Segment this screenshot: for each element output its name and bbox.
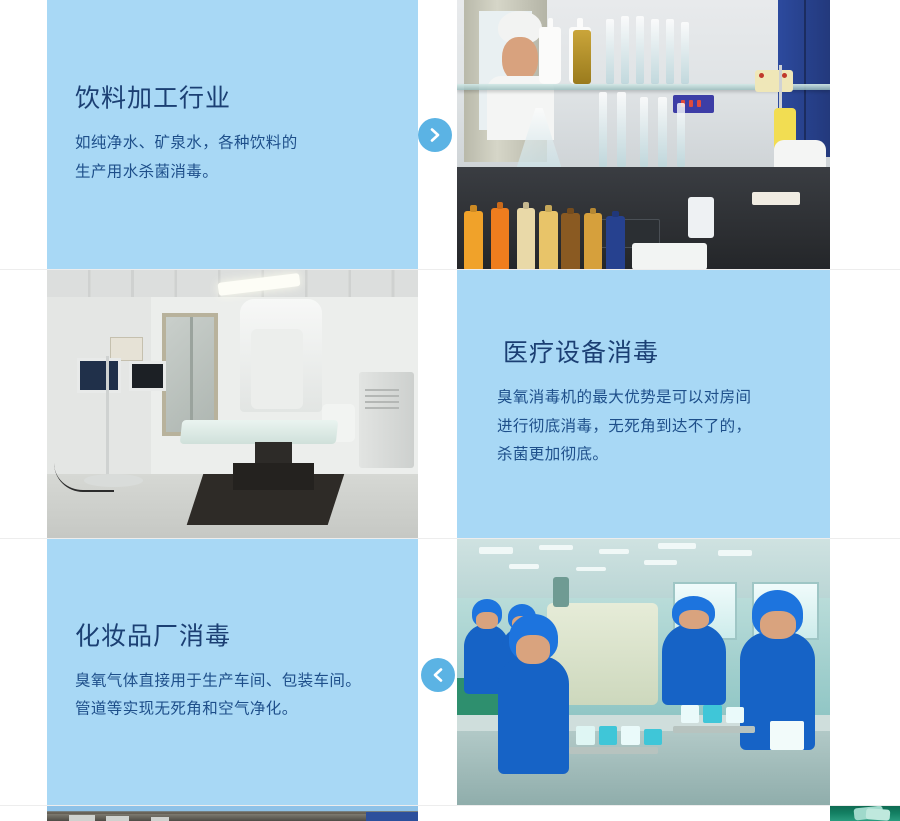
- medical-body-line-3: 杀菌更加彻底。: [497, 441, 804, 470]
- cleanroom-packaging-photo: [457, 539, 830, 806]
- medical-title: 医疗设备消毒: [503, 338, 804, 368]
- cosmetics-body-line-2: 管道等实现无死角和空气净化。: [75, 696, 392, 725]
- beverage-title: 饮料加工行业: [75, 83, 392, 113]
- scenario-row-beverage: 饮料加工行业 如纯净水、矿泉水，各种饮料的 生产用水杀菌消毒。: [0, 0, 900, 270]
- beverage-qc-lab-photo: [457, 0, 830, 270]
- medical-body-line-2: 进行彻底消毒，无死角到达不了的，: [497, 413, 804, 442]
- cosmetics-body: 臭氧气体直接用于生产车间、包装车间。 管道等实现无死角和空气净化。: [75, 667, 392, 724]
- beverage-next-arrow-button[interactable]: [418, 118, 452, 152]
- scenario-row-partial: [0, 806, 900, 821]
- medical-text-panel: 医疗设备消毒 臭氧消毒机的最大优势是可以对房间 进行彻底消毒，无死角到达不了的，…: [457, 270, 830, 538]
- beverage-text-panel: 饮料加工行业 如纯净水、矿泉水，各种饮料的 生产用水杀菌消毒。: [47, 0, 418, 270]
- medical-prev-arrow-button[interactable]: [421, 658, 455, 692]
- teal-partial-photo: [830, 806, 900, 821]
- cosmetics-text-panel: 化妆品厂消毒 臭氧气体直接用于生产车间、包装车间。 管道等实现无死角和空气净化。: [47, 539, 418, 806]
- medical-body-line-1: 臭氧消毒机的最大优势是可以对房间: [497, 384, 804, 413]
- scenario-row-medical: 医疗设备消毒 臭氧消毒机的最大优势是可以对房间 进行彻底消毒，无死角到达不了的，…: [0, 270, 900, 538]
- cosmetics-body-line-1: 臭氧气体直接用于生产车间、包装车间。: [75, 667, 392, 696]
- radiology-room-photo: [47, 270, 418, 538]
- beverage-body-line-2: 生产用水杀菌消毒。: [75, 158, 392, 187]
- cosmetics-title: 化妆品厂消毒: [75, 621, 392, 651]
- medical-body: 臭氧消毒机的最大优势是可以对房间 进行彻底消毒，无死角到达不了的， 杀菌更加彻底…: [497, 384, 804, 470]
- chevron-left-icon: [430, 667, 446, 683]
- chevron-right-icon: [427, 127, 443, 143]
- beverage-body-line-1: 如纯净水、矿泉水，各种饮料的: [75, 129, 392, 158]
- beverage-body: 如纯净水、矿泉水，各种饮料的 生产用水杀菌消毒。: [75, 129, 392, 186]
- industrial-site-photo: [47, 806, 418, 821]
- application-scenarios-page: 饮料加工行业 如纯净水、矿泉水，各种饮料的 生产用水杀菌消毒。: [0, 0, 900, 821]
